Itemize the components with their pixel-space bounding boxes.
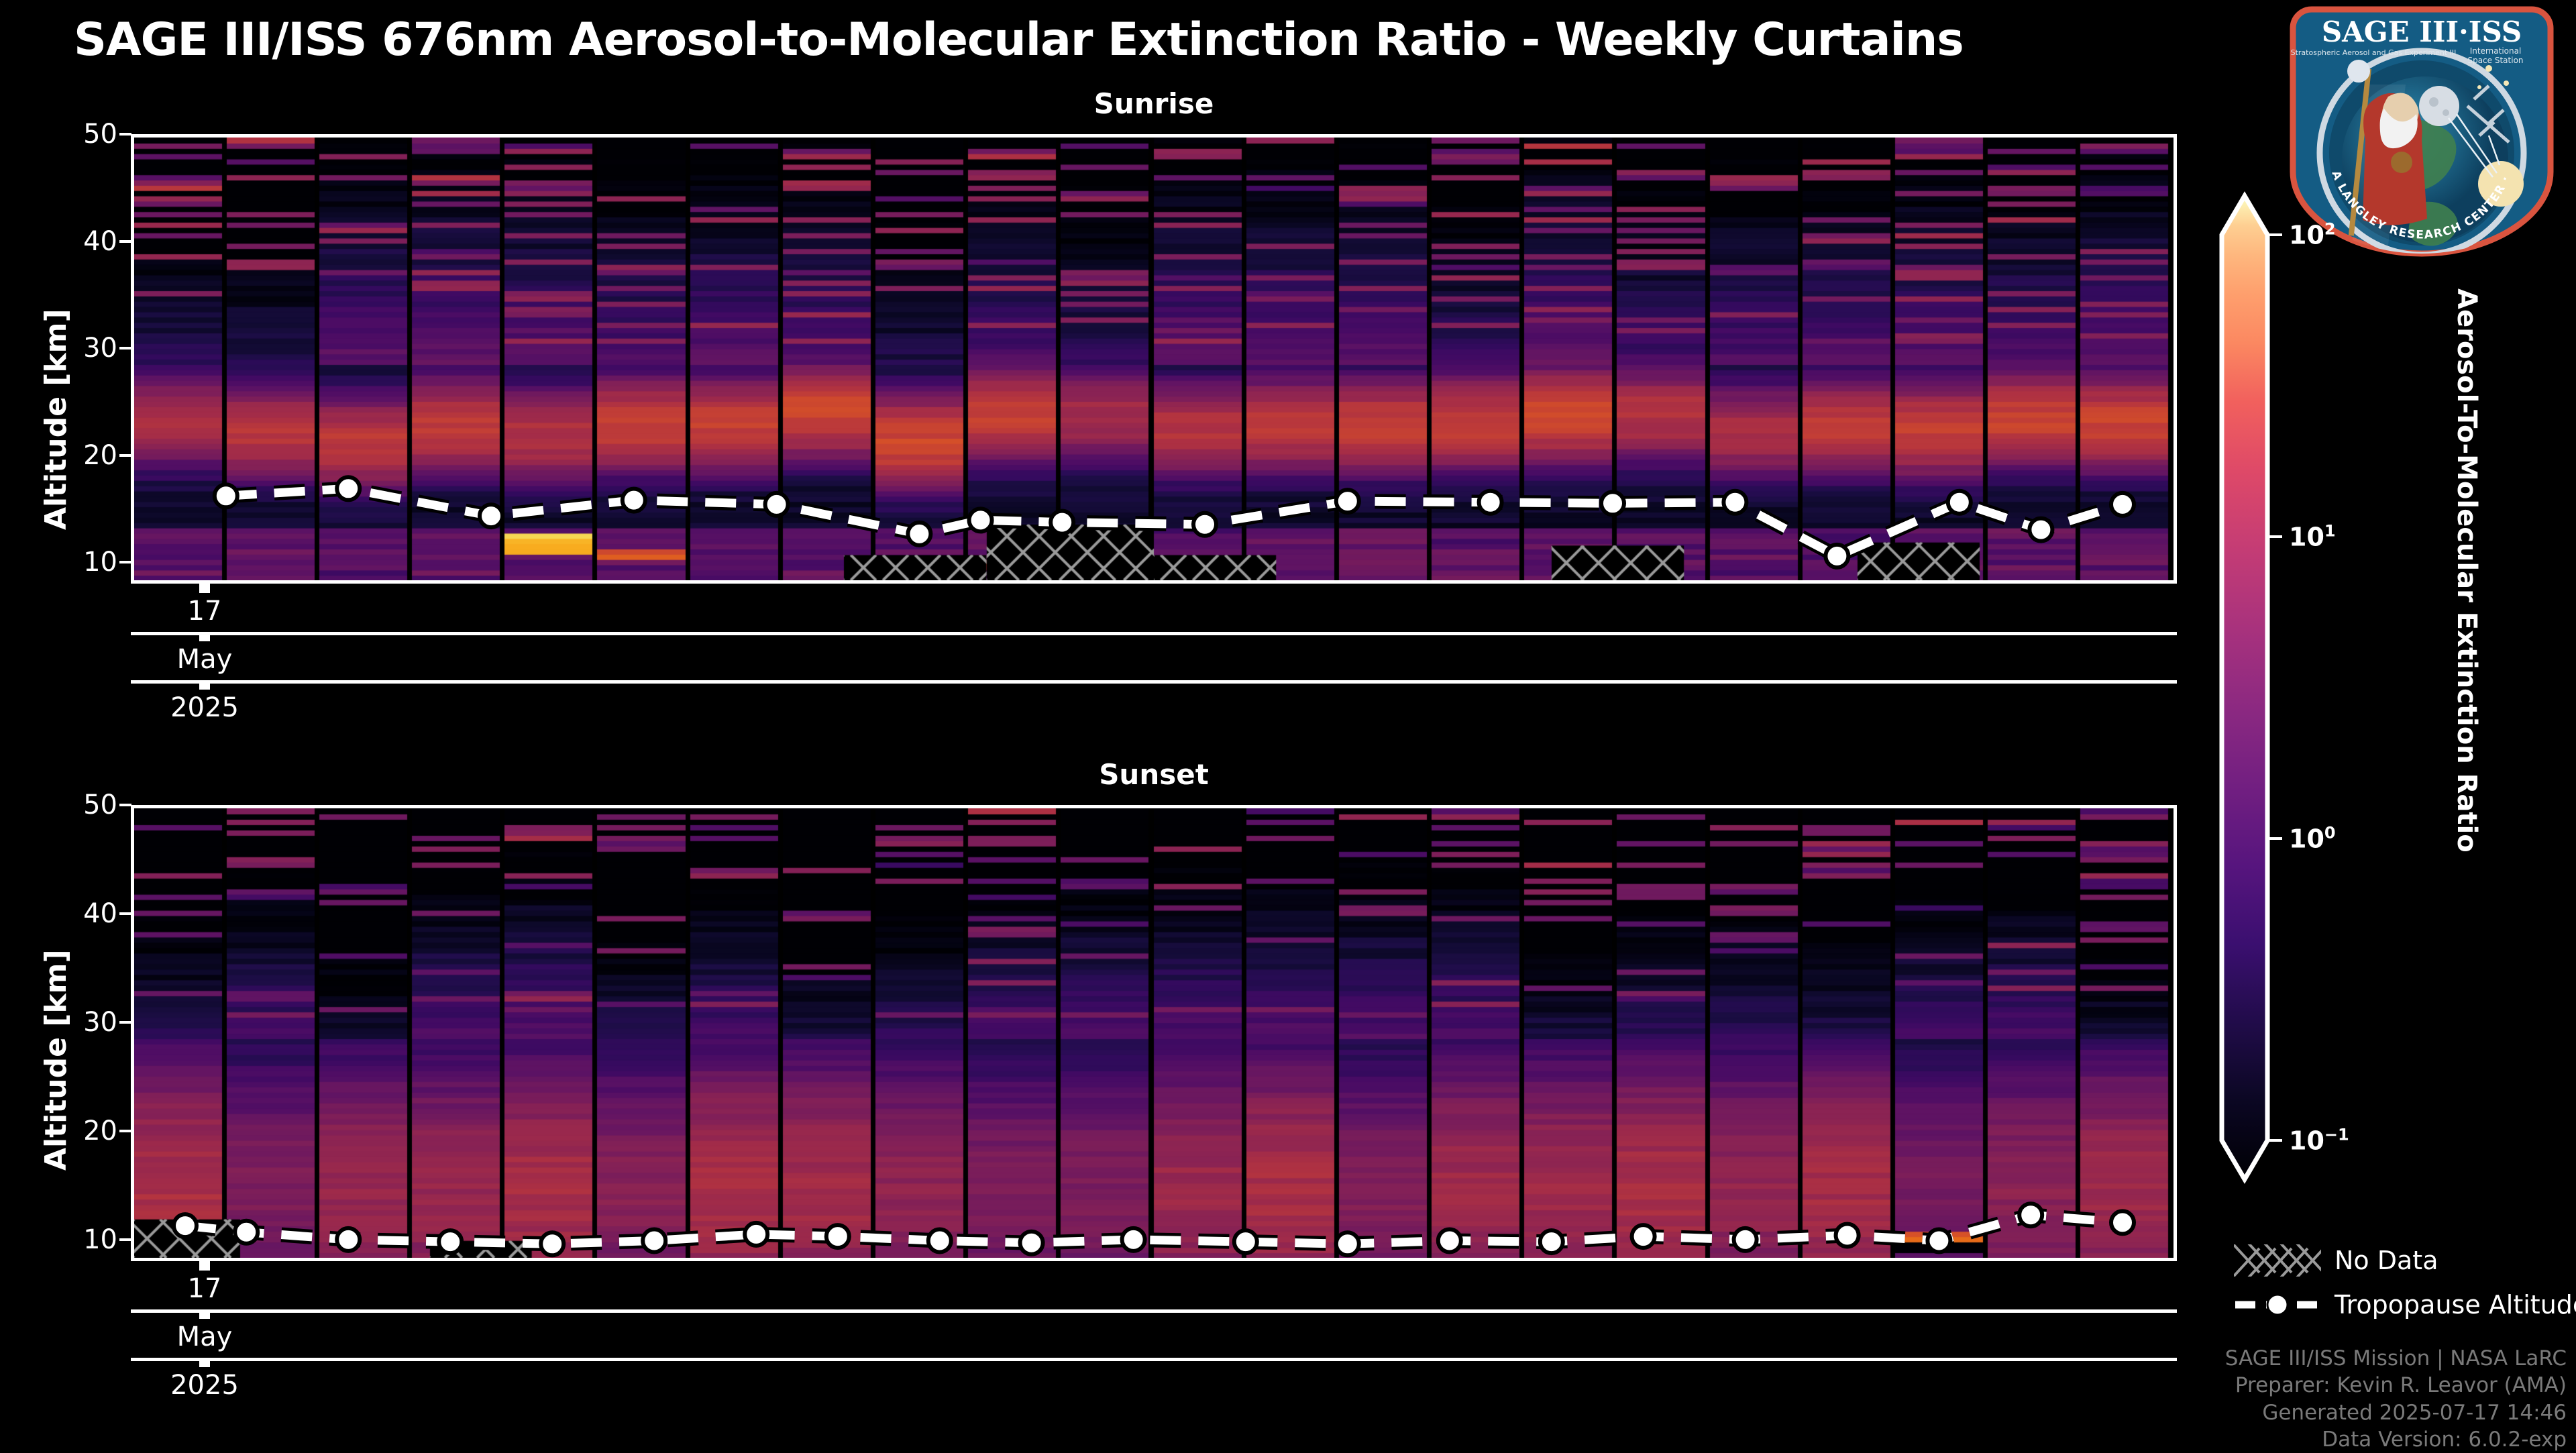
tropopause-marker (1336, 490, 1359, 513)
tropopause-marker (215, 484, 237, 507)
tropopause-marker (1836, 1224, 1859, 1247)
legend-item-no-data[interactable]: No Data (2234, 1241, 2569, 1280)
colorbar-tick-mark (2269, 233, 2282, 236)
colorbar-tick-mark (2269, 535, 2282, 538)
tropopause-marker (928, 1230, 951, 1252)
y-tick-label: 10 (0, 547, 117, 578)
tropopause-marker (1336, 1232, 1359, 1255)
credit-line-generated: Generated 2025-07-17 14:46 (2225, 1399, 2567, 1426)
tropopause-marker (2111, 493, 2134, 516)
date-axis-label-month: May (177, 1322, 233, 1352)
y-tick-label: 30 (0, 333, 117, 364)
date-axis-tick-year (199, 680, 210, 690)
y-tick-label: 50 (0, 119, 117, 150)
credit-line-preparer: Preparer: Kevin R. Leavor (AMA) (2225, 1372, 2567, 1399)
colorbar-tick-mark (2269, 837, 2282, 840)
colorbar-ticks: 10210110010−1 (2214, 188, 2288, 1187)
tropopause-marker (1825, 545, 1848, 568)
tropopause-overlay-sunrise (134, 138, 2173, 580)
tropopause-marker (2029, 519, 2052, 541)
heatmap-sunset[interactable] (131, 805, 2177, 1261)
y-tick-label: 20 (0, 1116, 117, 1146)
date-axis-label-year: 2025 (170, 1370, 239, 1401)
tropopause-marker (1723, 491, 1746, 514)
colorbar-label: Aerosol-To-Molecular Extinction Ratio (2451, 288, 2482, 853)
panel-title-sunset: Sunset (131, 758, 2177, 791)
y-tick-label: 10 (0, 1224, 117, 1255)
logo-title: SAGE III·ISS (2322, 15, 2522, 48)
tropopause-marker (1193, 513, 1216, 536)
tropopause-marker (1479, 491, 1502, 514)
tropopause-marker (480, 504, 502, 527)
tropopause-marker (1122, 1228, 1145, 1251)
tropopause-marker (337, 477, 360, 500)
y-tick-label: 40 (0, 226, 117, 257)
y-tick-mark (119, 561, 131, 563)
y-tick-mark (119, 133, 131, 136)
hatch-icon (2234, 1244, 2321, 1277)
date-axis-rule-year (131, 680, 2177, 684)
colorbar-tick-label: 100 (2289, 824, 2336, 854)
tropopause-marker (541, 1232, 563, 1255)
y-tick-mark (119, 1238, 131, 1241)
date-axis-sunset: 17May2025 (131, 1261, 2177, 1415)
date-axis-tick-month (199, 1309, 210, 1319)
y-tick-label: 30 (0, 1007, 117, 1038)
tropopause-marker (969, 508, 992, 531)
tropopause-marker (745, 1223, 767, 1246)
credit-line-mission: SAGE III/ISS Mission | NASA LaRC (2225, 1345, 2567, 1372)
date-axis-label-month: May (177, 644, 233, 675)
legend-item-tropopause[interactable]: Tropopause Altitude (2234, 1285, 2569, 1324)
tropopause-marker (2019, 1203, 2042, 1226)
y-tick-mark (119, 804, 131, 806)
tropopause-marker (1234, 1230, 1257, 1253)
tropopause-marker (623, 489, 645, 512)
tropopause-marker (1927, 1230, 1950, 1252)
date-axis-tick-year (199, 1358, 210, 1367)
date-axis-rule-year (131, 1358, 2177, 1361)
date-axis-label-year: 2025 (170, 692, 239, 723)
tropopause-marker (1051, 511, 1073, 534)
y-tick-mark (119, 912, 131, 915)
date-axis-rule-month (131, 632, 2177, 635)
logo-subtitle-right-2: Space Station (2467, 56, 2523, 65)
y-tick-mark (119, 347, 131, 349)
page-title: SAGE III/ISS 676nm Aerosol-to-Molecular … (74, 13, 2274, 66)
y-tick-mark (119, 1130, 131, 1132)
figure-canvas: SAGE III/ISS 676nm Aerosol-to-Molecular … (0, 0, 2576, 1449)
colorbar-tick-label: 10−1 (2289, 1126, 2349, 1156)
y-tick-mark (119, 240, 131, 243)
colorbar-tick-mark (2269, 1139, 2282, 1142)
date-axis-sunrise: 17May2025 (131, 584, 2177, 738)
colorbar-tick-label: 101 (2289, 522, 2336, 552)
date-axis-tick-day (199, 1261, 210, 1271)
colorbar[interactable]: 10210110010−1 (2214, 188, 2288, 1187)
y-tick-mark (119, 454, 131, 457)
tropopause-marker (1948, 491, 1971, 514)
date-axis-label-day: 17 (188, 1273, 222, 1304)
colorbar-tick-label: 102 (2289, 220, 2336, 250)
tropopause-marker (439, 1230, 462, 1253)
tropopause-marker (1734, 1228, 1757, 1251)
date-axis-tick-day (199, 584, 210, 593)
y-tick-mark (119, 1021, 131, 1024)
tropopause-marker (826, 1225, 849, 1248)
credits-block: SAGE III/ISS Mission | NASA LaRC Prepare… (2225, 1345, 2567, 1453)
tropopause-marker (908, 523, 930, 545)
y-tick-label: 20 (0, 440, 117, 471)
dashed-marker-icon (2234, 1289, 2321, 1321)
tropopause-marker (337, 1228, 360, 1251)
y-tick-label: 40 (0, 898, 117, 929)
logo-subtitle-left: Stratospheric Aerosol and Gas Experiment… (2291, 48, 2457, 57)
legend-label-no-data: No Data (2334, 1246, 2438, 1275)
tropopause-marker (1020, 1232, 1043, 1254)
legend: No Data Tropopause Altitude (2234, 1241, 2569, 1328)
date-axis-label-day: 17 (188, 596, 222, 627)
heatmap-sunrise[interactable] (131, 134, 2177, 584)
tropopause-marker (1438, 1230, 1461, 1252)
panel-title-sunrise: Sunrise (131, 87, 2177, 120)
date-axis-tick-month (199, 632, 210, 641)
tropopause-marker (235, 1221, 258, 1244)
y-tick-label: 50 (0, 790, 117, 820)
logo-subtitle-right-1: International (2470, 46, 2522, 56)
date-axis-rule-month (131, 1309, 2177, 1313)
tropopause-marker (174, 1214, 197, 1237)
tropopause-marker (1601, 492, 1624, 515)
tropopause-marker (1632, 1225, 1655, 1248)
tropopause-marker (765, 493, 788, 516)
legend-label-tropopause: Tropopause Altitude (2334, 1290, 2576, 1320)
tropopause-marker (1540, 1230, 1563, 1253)
tropopause-overlay-sunset (134, 808, 2173, 1258)
tropopause-marker (643, 1230, 665, 1252)
tropopause-marker (2111, 1211, 2134, 1234)
